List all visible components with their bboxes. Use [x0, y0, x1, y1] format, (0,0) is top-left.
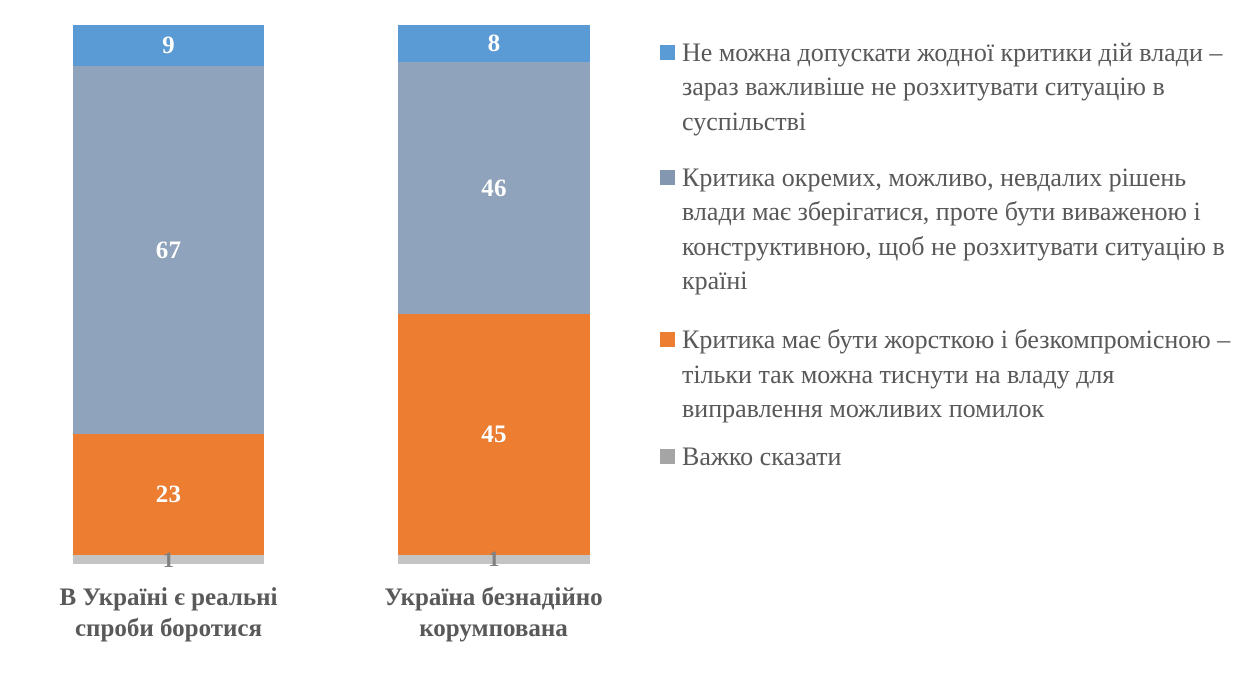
bar-value-label: 67: [156, 238, 181, 263]
category-label-line: спроби боротися: [27, 614, 310, 645]
bar-segment-no-criticism[interactable]: 8: [398, 25, 590, 62]
bar-value-label: 8: [488, 31, 501, 56]
category-label-line: В Україні є реальні: [27, 583, 310, 614]
legend-swatch-icon: [660, 45, 675, 60]
legend-swatch-icon: [660, 449, 675, 464]
legend-swatch-icon: [660, 170, 675, 185]
legend-item-harsh-criticism[interactable]: Критика має бути жорсткою і безкомпроміс…: [660, 323, 1240, 426]
bar-value-label: 45: [481, 422, 506, 447]
bar-value-label: 46: [481, 176, 506, 201]
plot-area: 9 67 23 1 8 46 45 1: [0, 0, 640, 691]
bar-value-label: 1: [163, 549, 174, 571]
bar-segment-measured-criticism[interactable]: 46: [398, 62, 590, 314]
stacked-bar-chart: 9 67 23 1 8 46 45 1: [0, 0, 1252, 691]
category-label-line: Україна безнадійно: [352, 583, 635, 614]
bar-segment-harsh-criticism[interactable]: 45: [398, 314, 590, 555]
legend-item-label: Не можна допускати жодної критики дій вл…: [682, 36, 1234, 139]
bar-segment-harsh-criticism[interactable]: 23: [73, 434, 264, 555]
bar-value-label: 9: [162, 33, 175, 58]
category-label-line: корумпована: [352, 614, 635, 645]
bar-segment-hard-to-say[interactable]: 1: [398, 555, 590, 564]
legend-item-label: Критика окремих, можливо, невдалих рішен…: [682, 161, 1234, 298]
chart-legend: Не можна допускати жодної критики дій вл…: [660, 36, 1240, 474]
category-label-ukraine-hopelessly-corrupt: Україна безнадійно корумпована: [352, 583, 635, 644]
legend-item-measured-criticism[interactable]: Критика окремих, можливо, невдалих рішен…: [660, 161, 1240, 298]
legend-item-no-criticism[interactable]: Не можна допускати жодної критики дій вл…: [660, 36, 1240, 139]
legend-item-label: Критика має бути жорсткою і безкомпроміс…: [682, 323, 1234, 426]
bar-column-ukraine-hopelessly-corrupt[interactable]: 8 46 45 1: [398, 25, 590, 564]
bar-segment-measured-criticism[interactable]: 67: [73, 66, 264, 434]
category-label-ukraine-real-attempts: В Україні є реальні спроби боротися: [27, 583, 310, 644]
bar-segment-hard-to-say[interactable]: 1: [73, 555, 264, 564]
bar-value-label: 1: [488, 548, 499, 570]
bar-segment-no-criticism[interactable]: 9: [73, 25, 264, 66]
legend-item-hard-to-say[interactable]: Важко сказати: [660, 440, 1240, 474]
bar-column-ukraine-real-attempts[interactable]: 9 67 23 1: [73, 25, 264, 564]
legend-item-label: Важко сказати: [682, 440, 841, 474]
legend-swatch-icon: [660, 332, 675, 347]
bar-value-label: 23: [156, 482, 181, 507]
